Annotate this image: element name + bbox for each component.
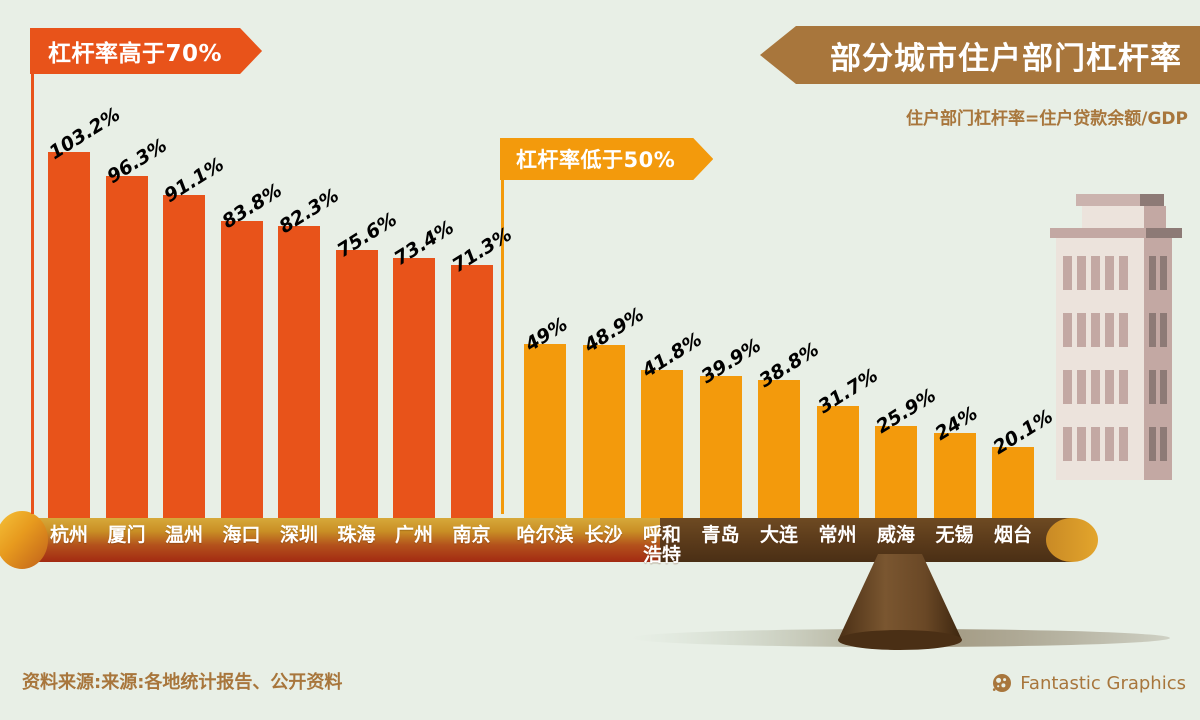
page-subtitle: 住户部门杠杆率=住户贷款余额/GDP [906,104,1188,129]
title-banner: 部分城市住户部门杠杆率 [760,26,1200,84]
infographic-canvas: 103.2%96.3%91.1%83.8%82.3%75.6%73.4%71.3… [0,0,1200,720]
legend-banner-low: 杠杆率低于50% [500,138,713,180]
legend-banner-low-label: 杠杆率低于50% [516,144,675,174]
category-label-16: 烟台 [968,526,1058,546]
legend-banner-high: 杠杆率高于70% [30,28,262,74]
legend-banner-high-label: 杠杆率高于70% [48,34,222,68]
brand-logo: Fantastic Graphics [991,672,1186,694]
camera-aperture-icon [991,672,1013,694]
source-note: 资料来源:来源:各地统计报告、公开资料 [22,668,342,694]
brand-logo-text: Fantastic Graphics [1020,673,1186,694]
page-title: 部分城市住户部门杠杆率 [830,33,1182,78]
